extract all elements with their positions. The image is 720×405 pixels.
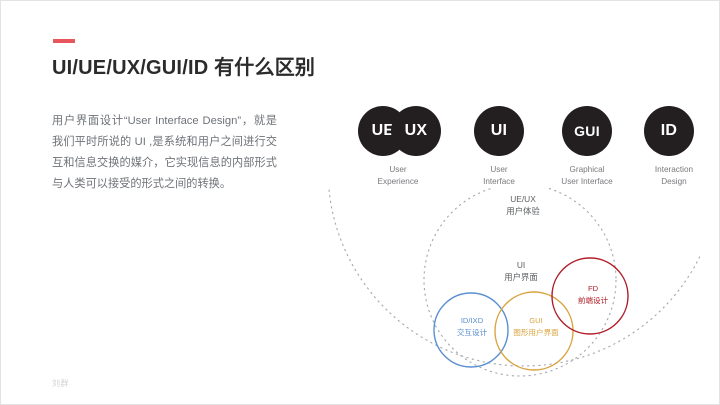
footer-author-name: 刘群 [52,378,69,389]
slide-page: UI/UE/UX/GUI/ID 有什么区别 用户界面设计“User Interf… [8,8,712,397]
venn-ring-ueux [328,188,700,366]
venn-circle-gui [495,292,573,370]
badge-circles-ui: UI [462,106,536,156]
badge-circles-ue-ux: UE UX [348,106,448,156]
title-accent-bar [53,39,75,43]
badge-group-ui: UI User Interface [462,106,536,187]
badge-group-ue-ux: UE UX User Experience [348,106,448,187]
venn-diagram: UE/UX 用户体验 UI 用户界面 ID/IXD 交互设计 GUI 图形用户界… [328,188,700,388]
badge-caption-gui: Graphical User Interface [541,164,633,187]
venn-svg [328,188,700,388]
badge-caption-id: Interaction Design [636,164,712,187]
venn-circle-id-ixd [434,293,508,367]
badge-circle-gui: GUI [562,106,612,156]
badge-group-id: ID Interaction Design [636,106,712,187]
badge-circle-id: ID [644,106,694,156]
body-paragraph: 用户界面设计“User Interface Design”，就是我们平时所说的 … [52,111,277,195]
slide-canvas: UI/UE/UX/GUI/ID 有什么区别 用户界面设计“User Interf… [0,0,720,405]
badge-circles-id: ID [636,106,712,156]
badge-caption-ue-ux: User Experience [348,164,448,187]
page-title: UI/UE/UX/GUI/ID 有什么区别 [52,51,432,80]
badge-row: UE UX User Experience UI User Interface … [348,106,688,191]
badge-circle-ui: UI [474,106,524,156]
badge-circle-ux: UX [391,106,441,156]
badge-group-gui: GUI Graphical User Interface [541,106,633,187]
badge-caption-ui: User Interface [462,164,536,187]
badge-circles-gui: GUI [541,106,633,156]
venn-circle-fd [552,258,628,334]
venn-ring-ui [424,188,616,376]
